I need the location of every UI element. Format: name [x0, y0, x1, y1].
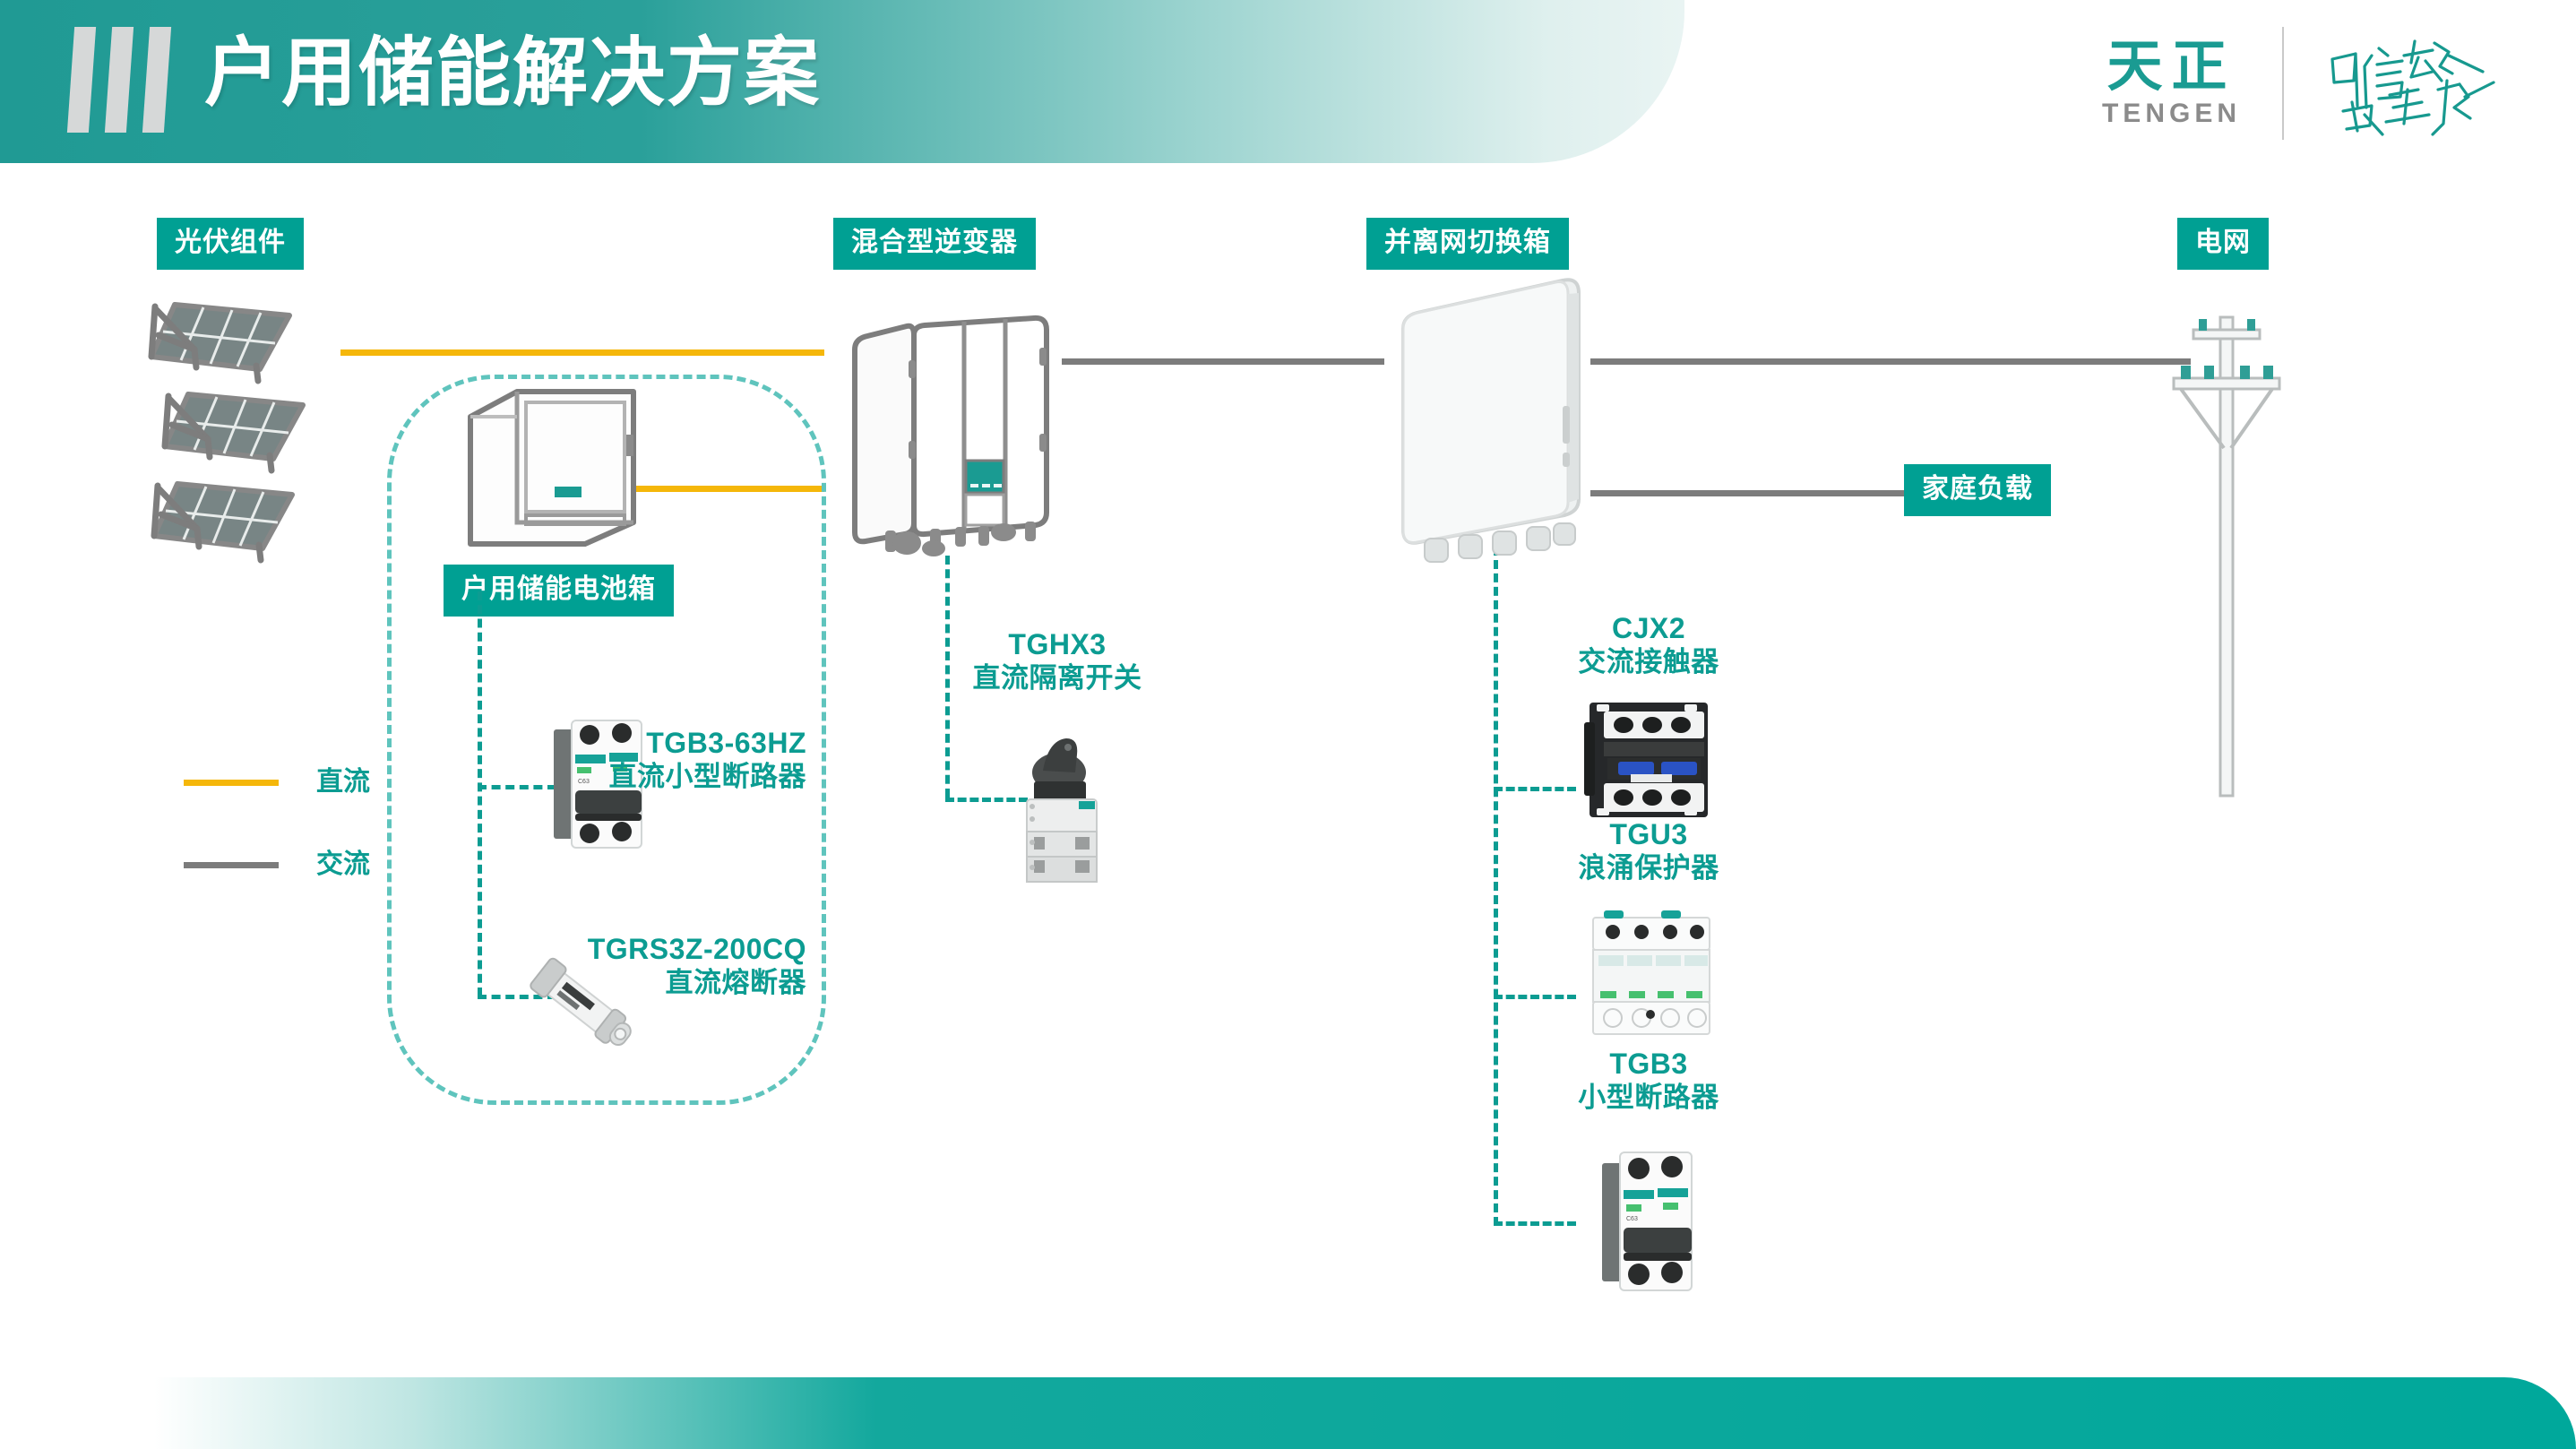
contactor-photo-icon: [1577, 697, 1720, 823]
dc-breaker-model: TGB3-63HZ: [573, 726, 806, 760]
legend-item-dc: 直流: [184, 757, 370, 807]
dc-isolator-desc: 直流隔离开关: [914, 661, 1201, 694]
solar-panel-icon-1: [139, 296, 296, 390]
contactor-model: CJX2: [1532, 611, 1765, 645]
switchbox-branch-trunk: [1494, 547, 1498, 1226]
legend-label-dc: 直流: [316, 766, 370, 798]
legend-item-ac: 交流: [184, 840, 370, 890]
logo-divider: [2282, 27, 2284, 140]
label-dc-fuse: TGRS3Z-200CQ 直流熔断器: [520, 932, 806, 1000]
switchover-box-icon: [1387, 273, 1602, 560]
wire-ac-inverter-to-switchbox: [1062, 358, 1384, 365]
badge-home-load: 家庭负载: [1904, 464, 2051, 516]
three-bars-icon: [67, 27, 193, 133]
legend-label-ac: 交流: [316, 849, 370, 881]
wire-ac-switchbox-to-load: [1590, 490, 1904, 496]
utility-pole-icon: [2168, 296, 2285, 798]
badge-switchbox: 并离网切换箱: [1366, 218, 1569, 270]
badge-inverter: 混合型逆变器: [833, 218, 1036, 270]
switchbox-branch-to-spd: [1494, 995, 1576, 999]
logo-chinese-name: 天正: [2106, 38, 2236, 97]
spd-desc: 浪涌保护器: [1532, 851, 1765, 884]
legend: 直流 交流: [184, 757, 370, 890]
page-title: 户用储能解决方案: [204, 19, 821, 126]
switchbox-branch-to-contactor: [1494, 787, 1576, 791]
badge-pv-modules: 光伏组件: [157, 218, 304, 270]
badge-grid: 电网: [2177, 218, 2269, 270]
dc-fuse-desc: 直流熔断器: [520, 966, 806, 999]
solar-panel-icon-3: [142, 475, 298, 569]
label-dc-breaker: TGB3-63HZ 直流小型断路器: [573, 726, 806, 794]
spd-model: TGU3: [1532, 817, 1765, 851]
ac-breaker-photo-icon: C63: [1593, 1140, 1701, 1301]
dc-isolator-photo-icon: [1004, 724, 1116, 885]
dc-isolator-model: TGHX3: [914, 627, 1201, 661]
wire-dc-pv-to-inverter: [340, 349, 824, 356]
switchbox-branch-to-breaker: [1494, 1221, 1576, 1226]
battery-branch-trunk: [478, 591, 482, 996]
dc-fuse-model: TGRS3Z-200CQ: [520, 932, 806, 966]
logo-mark: 天正 TENGEN: [2102, 38, 2241, 129]
ac-breaker-desc: 小型断路器: [1532, 1081, 1765, 1114]
hybrid-inverter-icon: [842, 306, 1062, 548]
spd-photo-icon: [1584, 905, 1719, 1039]
logo-english-name: TENGEN: [2102, 99, 2241, 129]
contactor-desc: 交流接触器: [1532, 645, 1765, 678]
wire-ac-switchbox-to-grid: [1590, 358, 2191, 365]
solar-panel-icon-2: [152, 385, 309, 479]
dc-breaker-desc: 直流小型断路器: [573, 760, 806, 793]
label-spd: TGU3 浪涌保护器: [1532, 817, 1765, 885]
label-contactor: CJX2 交流接触器: [1532, 611, 1765, 679]
page-footer-band: [0, 1377, 2576, 1449]
logo-slogan-handwriting-icon: [2325, 25, 2504, 142]
label-ac-breaker: TGB3 小型断路器: [1532, 1047, 1765, 1115]
page-header: 户用储能解决方案: [0, 0, 1684, 163]
brand-logo: 天正 TENGEN: [2102, 25, 2504, 142]
legend-swatch-ac: [184, 862, 279, 868]
label-dc-isolator: TGHX3 直流隔离开关: [914, 627, 1201, 695]
svg-text:C63: C63: [1626, 1216, 1638, 1222]
ac-breaker-model: TGB3: [1532, 1047, 1765, 1081]
battery-cabinet-icon: [461, 381, 641, 556]
legend-swatch-dc: [184, 780, 279, 786]
